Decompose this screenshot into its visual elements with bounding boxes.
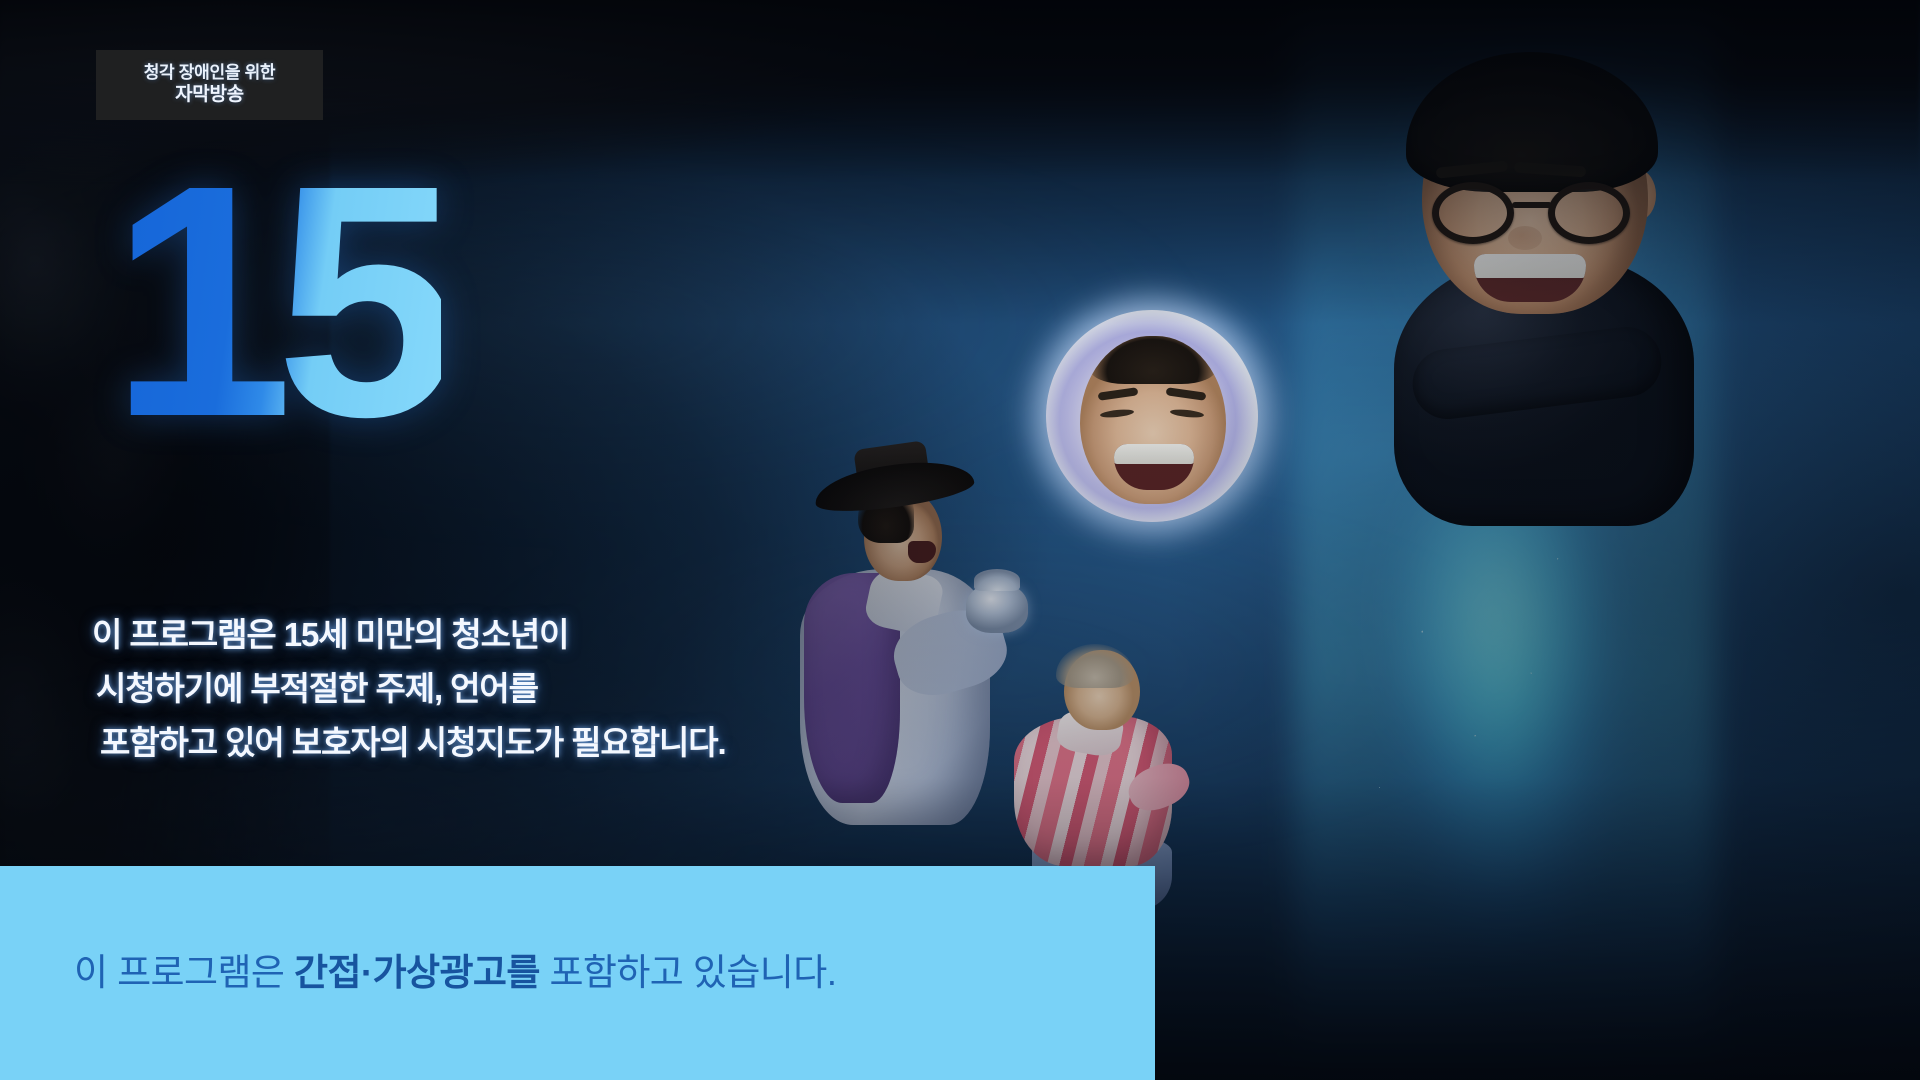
virtual-ad-disclosure-text: 이 프로그램은 간접·가상광고를 포함하고 있습니다. xyxy=(0,951,836,995)
ad-disclosure-prefix: 이 프로그램은 xyxy=(74,952,294,993)
advisory-line-1: 이 프로그램은 15세 미만의 청소년이 xyxy=(92,608,992,662)
broadcast-overlay-screen: 청각 장애인을 위한 자막방송 15 이 프로그램은 15세 미만의 청소년이 … xyxy=(0,0,1920,1080)
advisory-line-3: 포함하고 있어 보호자의 시청지도가 필요합니다. xyxy=(92,716,992,770)
closed-caption-badge: 청각 장애인을 위한 자막방송 xyxy=(96,50,323,120)
ad-disclosure-suffix: 포함하고 있습니다. xyxy=(540,952,837,993)
ad-disclosure-emphasis: 간접·가상광고를 xyxy=(294,952,540,993)
age-rating-number: 15 xyxy=(110,136,441,466)
closed-caption-badge-line1: 청각 장애인을 위한 xyxy=(144,64,276,83)
advisory-line-2: 시청하기에 부적절한 주제, 언어를 xyxy=(92,662,992,716)
viewer-advisory-text: 이 프로그램은 15세 미만의 청소년이 시청하기에 부적절한 주제, 언어를 … xyxy=(92,608,992,769)
virtual-ad-disclosure-banner: 이 프로그램은 간접·가상광고를 포함하고 있습니다. xyxy=(0,866,1155,1080)
closed-caption-badge-line2: 자막방송 xyxy=(175,85,244,106)
